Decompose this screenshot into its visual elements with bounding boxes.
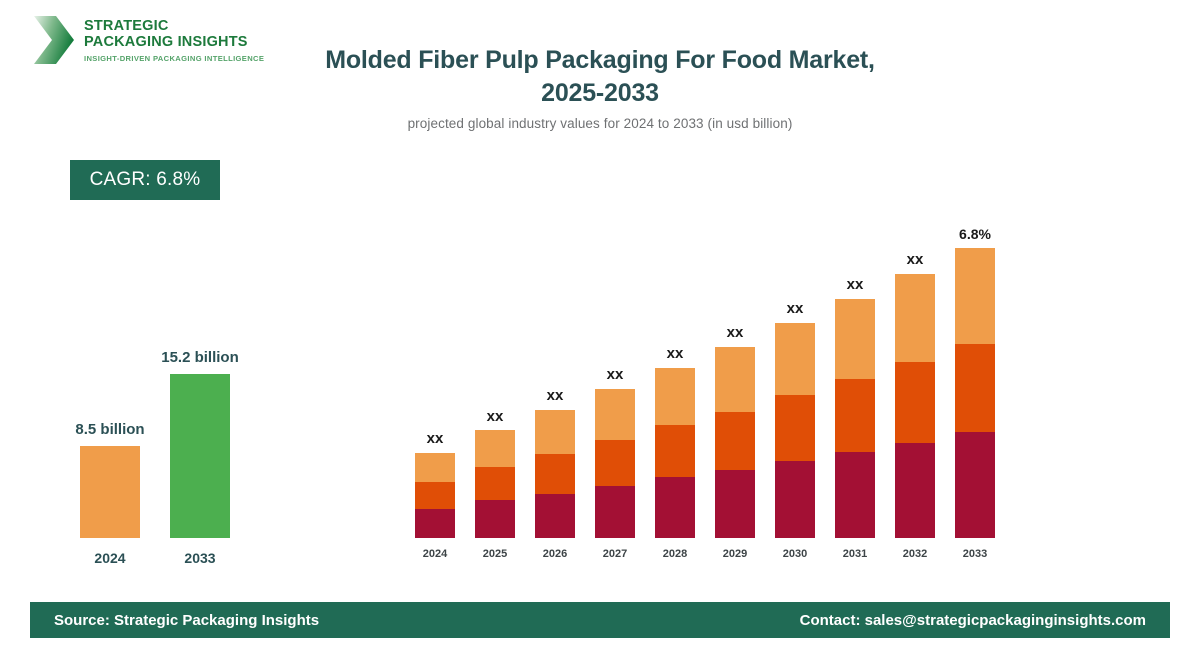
stacked-year-label: 2031 bbox=[835, 548, 875, 560]
brand-wordmark: STRATEGIC PACKAGING INSIGHTS INSIGHT-DRI… bbox=[84, 14, 264, 63]
stack-segment-segment-2 bbox=[775, 395, 815, 461]
stack-segment-segment-3 bbox=[775, 323, 815, 395]
brand-line-1: STRATEGIC bbox=[84, 19, 264, 35]
stack-segment-segment-3 bbox=[895, 274, 935, 362]
comparison-bar bbox=[170, 374, 230, 538]
stack-segment-segment-3 bbox=[535, 410, 575, 454]
page-subtitle: projected global industry values for 202… bbox=[280, 116, 920, 131]
comparison-year-label: 2033 bbox=[140, 550, 260, 566]
stack-segment-segment-3 bbox=[715, 347, 755, 412]
stack-segment-segment-3 bbox=[475, 430, 515, 467]
stack-segment-segment-3 bbox=[955, 248, 995, 344]
stack-segment-segment-2 bbox=[595, 440, 635, 486]
forecast-stacked-chart: 2024xx2025xx2026xx2027xx2028xx2029xx2030… bbox=[410, 205, 1020, 560]
stack-segment-segment-2 bbox=[895, 362, 935, 443]
stack-segment-segment-2 bbox=[955, 344, 995, 432]
stacked-year-label: 2026 bbox=[535, 548, 575, 560]
stacked-value-label: xx bbox=[705, 324, 765, 341]
footer-contact: Contact: sales@strategicpackaginginsight… bbox=[800, 612, 1146, 629]
stacked-year-label: 2027 bbox=[595, 548, 635, 560]
stack-segment-segment-3 bbox=[595, 389, 635, 440]
stacked-column bbox=[475, 430, 515, 538]
stack-segment-segment-3 bbox=[655, 368, 695, 425]
stack-segment-segment-1 bbox=[655, 477, 695, 538]
footer-bar: Source: Strategic Packaging Insights Con… bbox=[30, 602, 1170, 638]
stack-segment-segment-2 bbox=[475, 467, 515, 500]
stacked-value-label: xx bbox=[465, 408, 525, 425]
stacked-column bbox=[955, 248, 995, 538]
stacked-column bbox=[895, 274, 935, 538]
stacked-column bbox=[775, 323, 815, 538]
stack-segment-segment-1 bbox=[415, 509, 455, 538]
comparison-bar bbox=[80, 446, 140, 538]
stack-segment-segment-1 bbox=[955, 432, 995, 538]
stack-segment-segment-1 bbox=[775, 461, 815, 538]
chevron-logo-icon bbox=[32, 14, 76, 66]
comparison-value-label: 8.5 billion bbox=[30, 421, 190, 438]
stacked-year-label: 2024 bbox=[415, 548, 455, 560]
brand-line-2: PACKAGING INSIGHTS bbox=[84, 35, 264, 51]
stacked-column bbox=[415, 453, 455, 538]
stacked-year-label: 2025 bbox=[475, 548, 515, 560]
bar-fill bbox=[170, 374, 230, 538]
stacked-column bbox=[715, 347, 755, 538]
stack-segment-segment-1 bbox=[595, 486, 635, 538]
stacked-year-label: 2033 bbox=[955, 548, 995, 560]
stack-segment-segment-3 bbox=[415, 453, 455, 482]
stack-segment-segment-1 bbox=[535, 494, 575, 538]
stacked-column bbox=[595, 389, 635, 538]
stacked-value-label: 6.8% bbox=[945, 226, 1005, 242]
stacked-value-label: xx bbox=[405, 430, 465, 447]
stack-segment-segment-2 bbox=[535, 454, 575, 494]
stacked-year-label: 2032 bbox=[895, 548, 935, 560]
stacked-value-label: xx bbox=[585, 366, 645, 383]
cagr-badge: CAGR: 6.8% bbox=[70, 160, 220, 200]
stack-segment-segment-3 bbox=[835, 299, 875, 379]
stacked-year-label: 2030 bbox=[775, 548, 815, 560]
comparison-chart: 8.5 billion202415.2 billion2033 bbox=[50, 320, 290, 570]
stack-segment-segment-2 bbox=[655, 425, 695, 477]
stacked-value-label: xx bbox=[765, 300, 825, 317]
stacked-column bbox=[835, 299, 875, 538]
stack-segment-segment-2 bbox=[415, 482, 455, 509]
stack-segment-segment-2 bbox=[715, 412, 755, 470]
stacked-value-label: xx bbox=[885, 251, 945, 268]
stack-segment-segment-1 bbox=[475, 500, 515, 538]
brand-tagline: INSIGHT-DRIVEN PACKAGING INTELLIGENCE bbox=[84, 54, 264, 63]
stacked-value-label: xx bbox=[525, 387, 585, 404]
page-title: Molded Fiber Pulp Packaging For Food Mar… bbox=[300, 44, 900, 110]
bar-fill bbox=[80, 446, 140, 538]
stack-segment-segment-1 bbox=[715, 470, 755, 538]
stacked-year-label: 2029 bbox=[715, 548, 755, 560]
stack-segment-segment-2 bbox=[835, 379, 875, 452]
footer-source: Source: Strategic Packaging Insights bbox=[54, 612, 319, 629]
stack-segment-segment-1 bbox=[895, 443, 935, 538]
stacked-column bbox=[535, 410, 575, 538]
infographic-page: STRATEGIC PACKAGING INSIGHTS INSIGHT-DRI… bbox=[0, 0, 1200, 650]
stacked-year-label: 2028 bbox=[655, 548, 695, 560]
brand-logo: STRATEGIC PACKAGING INSIGHTS INSIGHT-DRI… bbox=[32, 14, 264, 66]
comparison-value-label: 15.2 billion bbox=[120, 349, 280, 366]
stacked-column bbox=[655, 368, 695, 538]
stack-segment-segment-1 bbox=[835, 452, 875, 538]
stacked-value-label: xx bbox=[825, 276, 885, 293]
stacked-value-label: xx bbox=[645, 345, 705, 362]
